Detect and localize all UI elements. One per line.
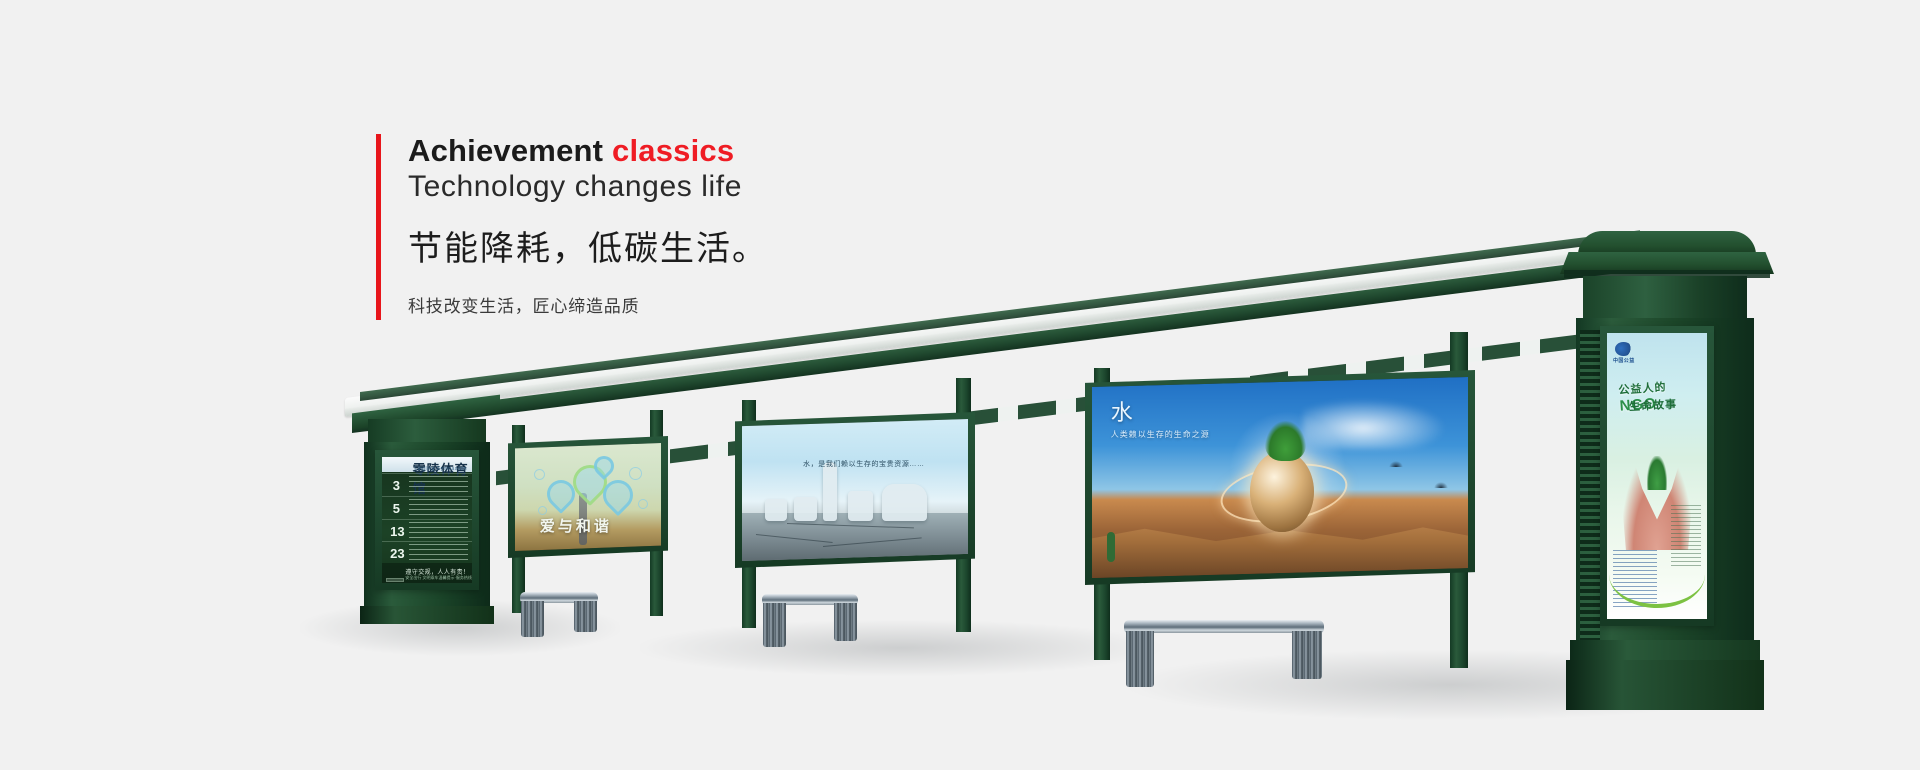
panel-love-harmony[interactable]: 爱与和谐 [508,436,668,558]
tower-neck [1583,276,1747,320]
seedling-illustration [1647,456,1667,490]
ngo-logo-label: 中国公益 [1613,357,1635,364]
cloud-graphic [1303,397,1453,449]
bench-leg-left [763,603,786,647]
route-stop-list [409,476,468,495]
bench-3[interactable] [1124,620,1324,688]
panel-route-schedule[interactable]: 零陵体育馆 Lingling Gymnasium 3 5 13 [375,450,479,590]
bench-2[interactable] [762,594,858,650]
ngo-title-line2: 生命故事 [1629,396,1678,414]
route-stop-list [409,522,468,541]
tower-plinth [1566,660,1764,710]
route-stop-list [409,499,468,518]
water-animals-poster-art: 水，是我们赖以生存的宝贵资源…… [742,419,968,561]
route-number: 23 [390,546,404,561]
left-cabinet-plinth [360,606,494,624]
schedule-station-subtitle: Lingling Gymnasium [414,466,467,472]
bench-leg-right [834,603,857,641]
earth-globe-graphic [1250,451,1314,531]
scene-canvas: Achievement classics Technology changes … [0,0,1920,770]
bubble-graphic-3 [638,499,648,509]
schedule-footer: 遵守交规，人人有责！ 安全出行 文明乘车温馨提示·服务热线 [382,563,472,583]
schedule-footer-subtext: 安全出行 文明乘车温馨提示·服务热线 [405,575,471,581]
route-number: 5 [393,501,400,516]
animal-elephant [882,484,927,521]
bird-graphic-2 [1434,482,1448,488]
panel-water-animals[interactable]: 水，是我们赖以生存的宝贵资源…… [735,412,975,568]
route-number: 13 [390,524,404,539]
tower-vent-strip [1580,330,1600,640]
love-harmony-poster-art: 爱与和谐 [515,443,661,551]
panel-ngo-green[interactable]: 中国公益 公益人的NGO 生命故事 [1600,326,1714,626]
bench-1[interactable] [520,592,598,640]
animal-giraffe [823,462,837,522]
green-swoosh-graphic [1609,541,1705,608]
schedule-header: 零陵体育馆 Lingling Gymnasium [382,457,472,472]
sprout-graphic [1265,421,1306,461]
bus-shelter: 中国公益 公益人的NGO 生命故事 [0,0,1920,770]
schedule-row: 23 [382,541,472,563]
bench-leg-left [521,601,544,637]
ngo-green-poster-art: 中国公益 公益人的NGO 生命故事 [1607,333,1707,619]
schedule-row: 13 [382,519,472,543]
bird-graphic-1 [1389,461,1403,467]
schedule-row: 3 [382,473,472,497]
animal-camel [848,491,873,521]
cactus-graphic [1107,532,1115,562]
bench-leg-right [1292,631,1322,679]
water-poster-text: 水 人类赖以生存的生命之源 [1111,395,1210,440]
animals-poster-caption: 水，是我们赖以生存的宝贵资源…… [803,459,925,469]
schedule-badge [386,578,404,582]
schedule-row: 5 [382,496,472,520]
water-poster-subtitle: 人类赖以生存的生命之源 [1111,429,1210,440]
bench-leg-right [574,601,597,632]
route-stop-list [409,544,468,562]
love-harmony-title: 爱与和谐 [540,515,612,536]
ground-shadow-mid [640,620,1160,676]
panel-water-source[interactable]: 水 人类赖以生存的生命之源 [1085,370,1475,585]
animal-zebra [765,499,788,522]
tower-base [1570,640,1760,660]
route-schedule-art: 零陵体育馆 Lingling Gymnasium 3 5 13 [382,457,472,583]
animal-lion [794,497,817,521]
water-source-poster-art: 水 人类赖以生存的生命之源 [1092,377,1468,578]
bubble-graphic-4 [538,506,547,515]
route-number: 3 [393,478,400,493]
ngo-logo-icon [1615,342,1632,356]
bubble-graphic-2 [629,467,642,480]
bench-leg-left [1126,631,1154,687]
bubble-graphic-1 [534,469,545,480]
water-poster-title: 水 [1111,395,1210,427]
